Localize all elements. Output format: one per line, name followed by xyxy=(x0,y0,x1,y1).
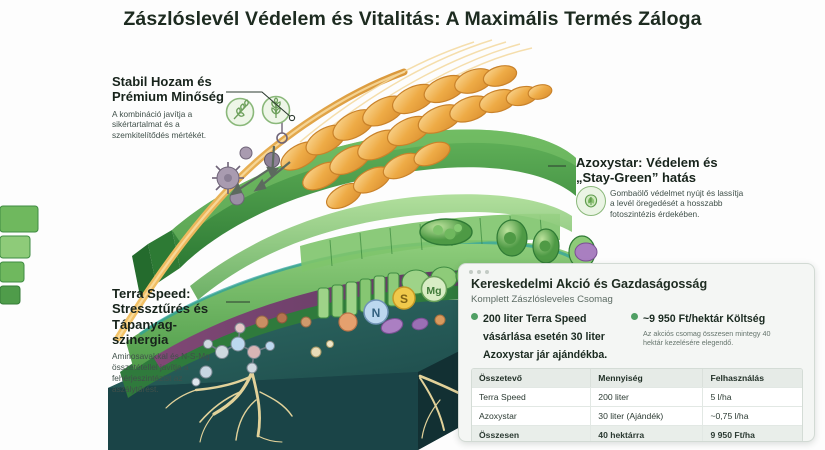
commercial-offer-panel: Kereskedelmi Akció és Gazdaságosság Komp… xyxy=(458,263,815,442)
panel-window-dots xyxy=(469,270,489,274)
infographic-canvas: Zászlóslevél Védelem és Vitalitás: A Max… xyxy=(0,0,825,450)
table-row: Terra Speed 200 liter 5 l/ha xyxy=(472,388,802,407)
table-header-cell: Összetevő xyxy=(472,369,591,388)
callout-heading: Stabil Hozam és Prémium Minőség xyxy=(112,74,224,105)
table-header-cell: Mennyiség xyxy=(591,369,703,388)
offer-note-text: Az akciós csomag összesen mintegy 40 hek… xyxy=(643,329,791,348)
offer-main-text: 200 liter Terra Speed vásárlása esetén 3… xyxy=(483,313,607,361)
table-cell: 30 liter (Ajándék) xyxy=(591,407,703,426)
offer-list: 200 liter Terra Speed vásárlása esetén 3… xyxy=(471,309,803,363)
leaf-edge-blocks xyxy=(0,206,38,304)
callout-body: Gombaölő védelmet nyújt és lassítja a le… xyxy=(610,188,750,220)
table-cell: 200 liter xyxy=(591,388,703,407)
callout-body: Aminosavakkal és N-S-Mg összetétellel ja… xyxy=(112,351,224,394)
table-cell: 9 950 Ft/ha xyxy=(703,426,802,443)
table-cell: 5 l/ha xyxy=(703,388,802,407)
offer-item-cost: ~9 950 Ft/hektár Költség Az akciós csoma… xyxy=(631,309,791,363)
bullet-dot-icon xyxy=(631,313,638,320)
callout-heading: Terra Speed: Stressztűrés és Tápanyag-sz… xyxy=(112,286,224,347)
callout-stabil-hozam: Stabil Hozam és Prémium Minőség A kombin… xyxy=(112,74,224,141)
svg-text:S: S xyxy=(400,292,408,306)
table-header-cell: Felhasználás xyxy=(703,369,802,388)
callout-terra-speed: Terra Speed: Stressztűrés és Tápanyag-sz… xyxy=(112,286,224,394)
callout-heading: Azoxystar: Védelem és „Stay-Green” hatás xyxy=(576,155,752,186)
leaf-shield-icon xyxy=(576,186,606,216)
table-cell: Terra Speed xyxy=(472,388,591,407)
table-header-row: Összetevő Mennyiség Felhasználás xyxy=(472,369,802,388)
table-row: Azoxystar 30 liter (Ajándék) ~0,75 l/ha xyxy=(472,407,802,426)
table-cell: Összesen xyxy=(472,426,591,443)
cost-table: Összetevő Mennyiség Felhasználás Terra S… xyxy=(471,368,803,442)
table-total-row: Összesen 40 hektárra 9 950 Ft/ha xyxy=(472,426,802,443)
bullet-dot-icon xyxy=(471,313,478,320)
table-cell: Azoxystar xyxy=(472,407,591,426)
svg-text:Mg: Mg xyxy=(426,285,441,297)
panel-title: Kereskedelmi Akció és Gazdaságosság xyxy=(471,277,707,291)
offer-item-bundle: 200 liter Terra Speed vásárlása esetén 3… xyxy=(471,309,621,363)
offer-main-text: ~9 950 Ft/hektár Költség xyxy=(643,313,765,325)
svg-text:N: N xyxy=(372,306,381,320)
callout-body: A kombináció javítja a sikértartalmat és… xyxy=(112,109,224,141)
wheat-badge-group xyxy=(227,97,290,126)
table-cell: ~0,75 l/ha xyxy=(703,407,802,426)
table-cell: 40 hektárra xyxy=(591,426,703,443)
panel-subtitle: Komplett Zászlósleveles Csomag xyxy=(471,294,613,305)
